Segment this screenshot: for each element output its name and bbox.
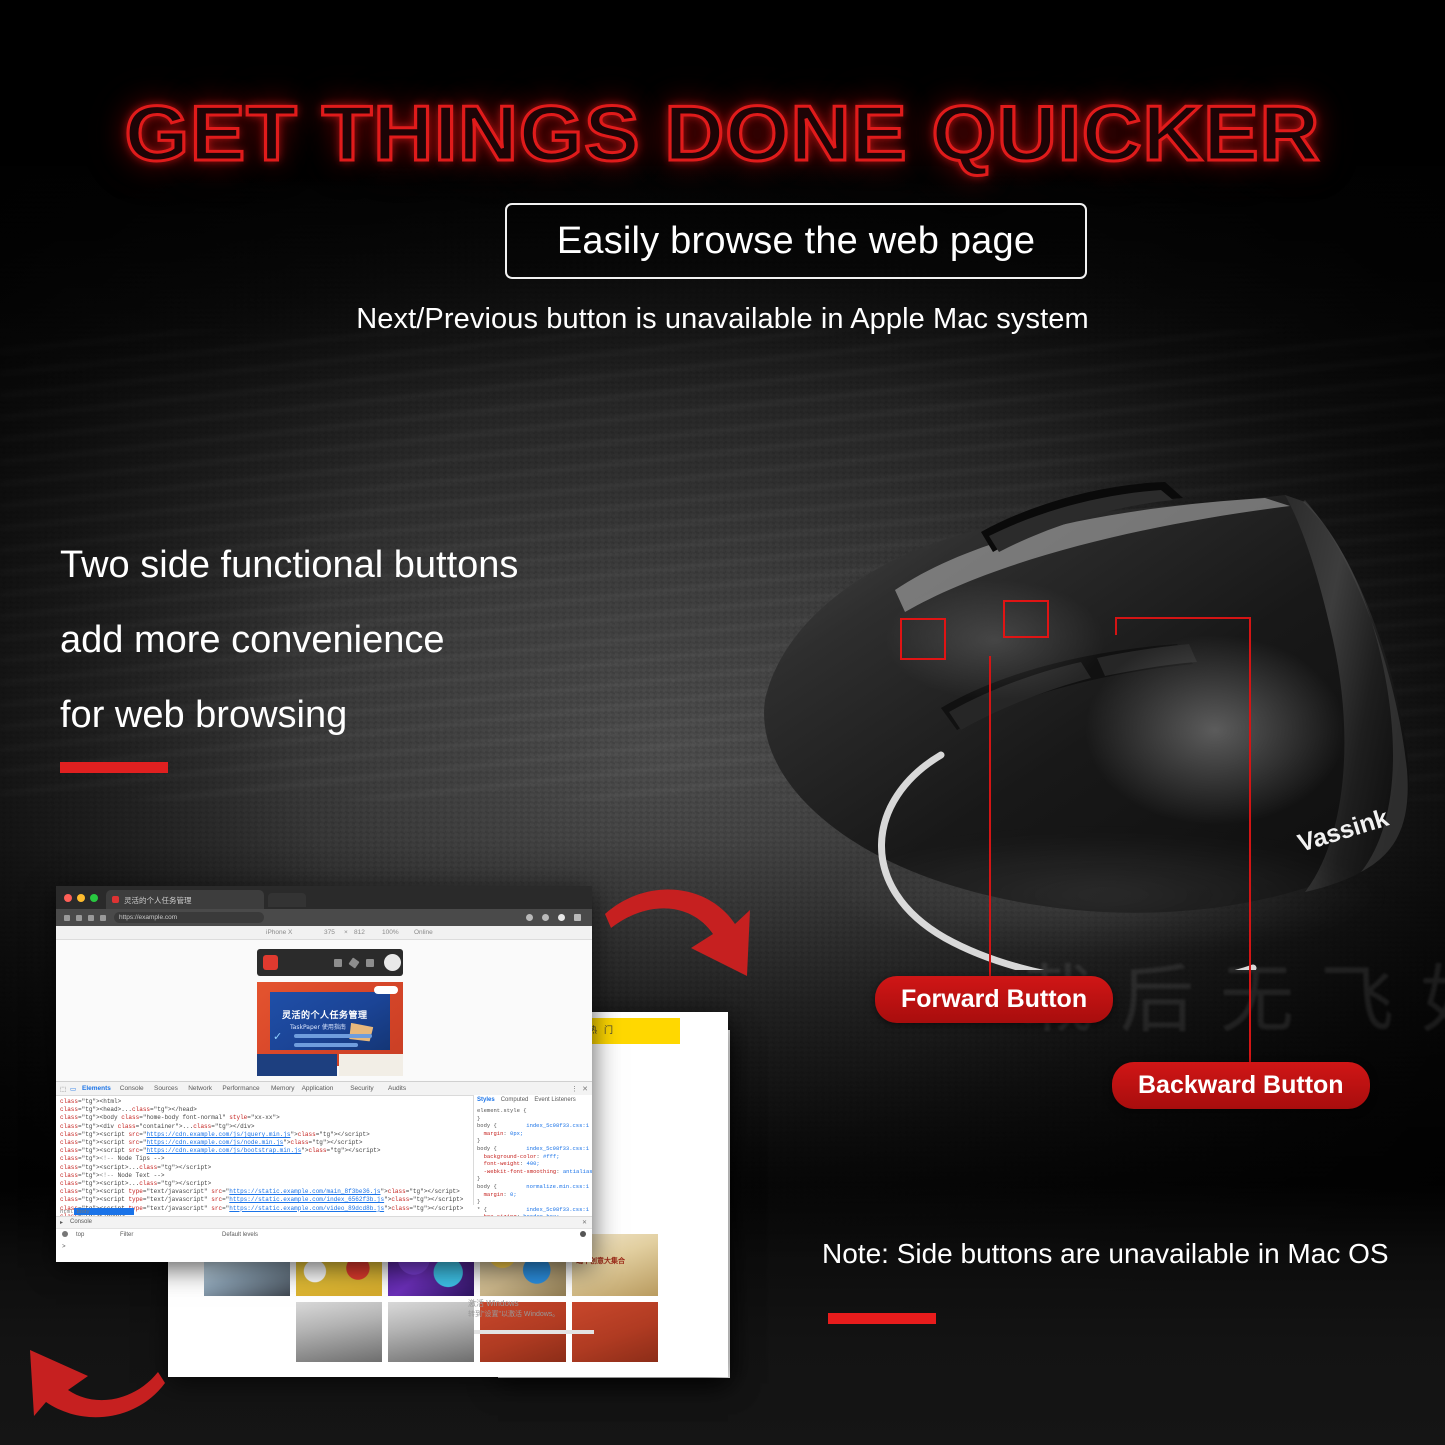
devtools-settings-icon[interactable]: ⋮ xyxy=(571,1085,578,1093)
devtools-console-settings-icon[interactable] xyxy=(580,1231,586,1237)
mouse-specular-highlight xyxy=(1085,635,1345,825)
home-icon[interactable] xyxy=(100,915,106,921)
forward-nav-icon[interactable] xyxy=(76,915,82,921)
vertical-mouse-product-image: Vassink xyxy=(745,440,1445,970)
device-toolbar-zoom: 100% xyxy=(382,929,399,936)
devtools-styles-rules: element.style {}body {index_5c98f33.css:… xyxy=(477,1107,589,1229)
back-window-thumbnail[interactable] xyxy=(388,1302,474,1362)
window-minimize-button[interactable] xyxy=(77,894,85,902)
back-window-activation-line-1: 激活 Windows xyxy=(468,1298,519,1309)
devtools-console-bar xyxy=(56,1217,592,1229)
mouse-surface-glow xyxy=(825,835,1385,955)
browser-tab-title: 灵活的个人任务管理 xyxy=(124,895,252,906)
devtools-console-label: Console xyxy=(70,1219,92,1225)
devtools-tab-performance[interactable]: Performance xyxy=(222,1085,259,1092)
window-close-button[interactable] xyxy=(64,894,72,902)
devtools-tab-audits[interactable]: Audits xyxy=(388,1085,406,1092)
devtools-style-property[interactable]: -webkit-font-smoothing: antialiased; xyxy=(477,1168,589,1176)
devtools-console-close-icon[interactable]: ✕ xyxy=(582,1219,587,1226)
devtools-code-line[interactable]: class="tg"><head>...class="tg"></head> xyxy=(60,1106,460,1114)
feature-copy-accent-bar xyxy=(60,762,168,773)
device-toolbar-width: 375 xyxy=(324,929,335,936)
mac-os-note-accent-bar xyxy=(828,1313,936,1324)
devtools-tab-network[interactable]: Network xyxy=(188,1085,212,1092)
devtools-style-rule-close: } xyxy=(477,1115,589,1123)
devtools-code-line[interactable]: class="tg"><script>...class="tg"></scrip… xyxy=(60,1164,460,1172)
devtools-code-line[interactable]: class="tg"><script src="https://cdn.exam… xyxy=(60,1131,460,1139)
subtitle-note: Next/Previous button is unavailable in A… xyxy=(0,303,1445,336)
page-hero-subtitle: TaskPaper 使用指南 xyxy=(290,1022,346,1031)
devtools-style-property[interactable]: font-weight: 400; xyxy=(477,1160,589,1168)
tab-favicon xyxy=(112,896,119,903)
back-window-yellow-banner-label: 热门 xyxy=(588,1023,620,1036)
devtools-panel: ⬚▭ElementsConsoleSourcesNetworkPerforman… xyxy=(56,1081,592,1262)
backward-button-highlight-box xyxy=(1003,600,1049,638)
devtools-console-filter[interactable]: Filter xyxy=(120,1232,133,1238)
devtools-style-rule-selector[interactable]: body {normalize.min.css:1 xyxy=(477,1183,589,1191)
devtools-code-line[interactable]: class="tg"><html> xyxy=(60,1098,460,1106)
devtools-console-drawer: Console ▸ ✕ top Filter Default levels > xyxy=(56,1216,592,1262)
back-nav-icon[interactable] xyxy=(64,915,70,921)
devtools-tab-sources[interactable]: Sources xyxy=(154,1085,178,1092)
devtools-console-levels[interactable]: Default levels xyxy=(222,1232,258,1238)
product-marketing-image: 载后无飞如 xyxy=(0,0,1445,1445)
devtools-style-rule-close: } xyxy=(477,1175,589,1183)
devtools-console-context[interactable]: top xyxy=(76,1232,84,1238)
devtools-tab-application[interactable]: Application xyxy=(302,1085,334,1092)
bookmark-icon[interactable] xyxy=(542,914,549,921)
devtools-tab-elements[interactable]: Elements xyxy=(82,1085,111,1092)
devtools-tab-security[interactable]: Security xyxy=(350,1085,373,1092)
devtools-tab-console[interactable]: Console xyxy=(120,1085,144,1092)
devtools-styles-tab-event-listeners[interactable]: Event Listeners xyxy=(534,1097,575,1103)
page-hero-badge xyxy=(374,986,398,994)
arrow-to-browser-screenshot xyxy=(595,872,775,997)
devtools-code-line[interactable]: class="tg"><body class="home-body font-n… xyxy=(60,1114,460,1122)
devtools-code-line[interactable]: class="tg"><script type="text/javascript… xyxy=(60,1196,460,1204)
devtools-console-clear-icon[interactable] xyxy=(62,1231,68,1237)
devtools-style-property[interactable]: margin: 0; xyxy=(477,1191,589,1199)
page-logo-icon xyxy=(263,955,278,970)
back-window-activation-line-2: 转到"设置"以激活 Windows。 xyxy=(468,1309,559,1319)
devtools-code-line[interactable]: class="tg"><script src="https://cdn.exam… xyxy=(60,1139,460,1147)
forward-leader-line-vertical xyxy=(989,656,991,978)
devtools-styles-tab-computed[interactable]: Computed xyxy=(501,1097,529,1103)
device-toolbar-throttle: Online xyxy=(414,929,433,936)
devtools-style-rule-close: } xyxy=(477,1137,589,1145)
back-window-thumbnail[interactable] xyxy=(296,1302,382,1362)
devtools-styles-tabs: StylesComputedEvent Listeners xyxy=(477,1097,582,1103)
devtools-style-rule-selector[interactable]: body {index_5c98f33.css:1 xyxy=(477,1122,589,1130)
page-hero-title: 灵活的个人任务管理 xyxy=(282,1008,368,1021)
url-text: https://example.com xyxy=(119,914,177,921)
devtools-code-line[interactable]: class="tg"><div class="container">...cla… xyxy=(60,1123,460,1131)
reload-icon[interactable] xyxy=(88,915,94,921)
profile-avatar[interactable] xyxy=(558,914,565,921)
feature-copy-block: Two side functional buttons add more con… xyxy=(60,528,680,753)
page-nav-icon-menu[interactable] xyxy=(334,959,342,967)
device-toolbar-x: × xyxy=(344,929,348,936)
page-hero-placeholder-line-2 xyxy=(294,1043,358,1047)
browser-tab-inactive[interactable] xyxy=(268,893,306,907)
devtools-style-property[interactable]: background-color: #fff; xyxy=(477,1153,589,1161)
devtools-code-line[interactable]: class="tg"><script>...class="tg"></scrip… xyxy=(60,1180,460,1188)
page-headline: GET THINGS DONE QUICKER xyxy=(0,88,1445,179)
devtools-styles-tab-styles[interactable]: Styles xyxy=(477,1097,495,1103)
devtools-tab-memory[interactable]: Memory xyxy=(271,1085,294,1092)
page-nav-card xyxy=(257,949,403,976)
page-hero-placeholder-line-1 xyxy=(294,1034,372,1038)
screenshot-window-front-browser: 灵活的个人任务管理 https://example.com iPhone X 3… xyxy=(56,886,592,1262)
window-maximize-button[interactable] xyxy=(90,894,98,902)
devtools-style-rule-selector[interactable]: * {index_5c98f33.css:1 xyxy=(477,1206,589,1214)
mac-os-note: Note: Side buttons are unavailable in Ma… xyxy=(822,1238,1389,1270)
devtools-code-line[interactable]: class="tg"><script type="text/javascript… xyxy=(60,1188,460,1196)
devtools-breadcrumb: html body xyxy=(60,1208,90,1215)
page-secondary-card-1 xyxy=(257,1054,337,1076)
devtools-style-rule-close: } xyxy=(477,1198,589,1206)
subtitle-frame: Easily browse the web page xyxy=(505,203,1087,279)
arrow-bottom-left xyxy=(10,1328,175,1445)
device-toolbar-device: iPhone X xyxy=(266,929,292,936)
feature-copy-line-2: add more convenience xyxy=(60,603,680,678)
devtools-console-expand-icon[interactable]: ▸ xyxy=(60,1219,63,1226)
page-hero-check-icon: ✓ xyxy=(273,1030,282,1043)
menu-icon[interactable] xyxy=(574,914,581,921)
devtools-code-line[interactable]: class="tg"><script src="https://cdn.exam… xyxy=(60,1147,460,1155)
devtools-code-line[interactable]: class="tg"><!-- Node Tips --> xyxy=(60,1155,460,1163)
devtools-style-rule-selector[interactable]: body {index_5c98f33.css:1 xyxy=(477,1145,589,1153)
feature-copy-line-1: Two side functional buttons xyxy=(60,528,680,603)
forward-button-highlight-box xyxy=(900,618,946,660)
backward-leader-line-stub xyxy=(1115,617,1117,635)
device-toolbar-height: 812 xyxy=(354,929,365,936)
backward-button-callout: Backward Button xyxy=(1112,1062,1370,1109)
back-window-bottom-dots xyxy=(474,1330,594,1334)
page-nav-icon-user[interactable] xyxy=(366,959,374,967)
devtools-style-property[interactable]: margin: 0px; xyxy=(477,1130,589,1138)
devtools-close-icon[interactable]: ✕ xyxy=(582,1085,588,1093)
extension-icon[interactable] xyxy=(526,914,533,921)
backward-leader-line-vertical xyxy=(1249,617,1251,1065)
subtitle-text: Easily browse the web page xyxy=(557,220,1035,263)
backward-leader-line-horizontal xyxy=(1115,617,1251,619)
page-secondary-card-2 xyxy=(339,1054,403,1076)
devtools-style-rule-selector[interactable]: element.style { xyxy=(477,1107,589,1115)
page-nav-avatar[interactable] xyxy=(384,954,401,971)
devtools-code-line[interactable]: class="tg"><!-- Node Text --> xyxy=(60,1172,460,1180)
devtools-styles-pane: StylesComputedEvent Listeners element.st… xyxy=(473,1095,592,1205)
page-hero-inner-card xyxy=(270,992,390,1050)
feature-copy-line-3: for web browsing xyxy=(60,678,680,753)
forward-button-callout: Forward Button xyxy=(875,976,1113,1023)
devtools-console-prompt[interactable]: > xyxy=(62,1243,66,1250)
